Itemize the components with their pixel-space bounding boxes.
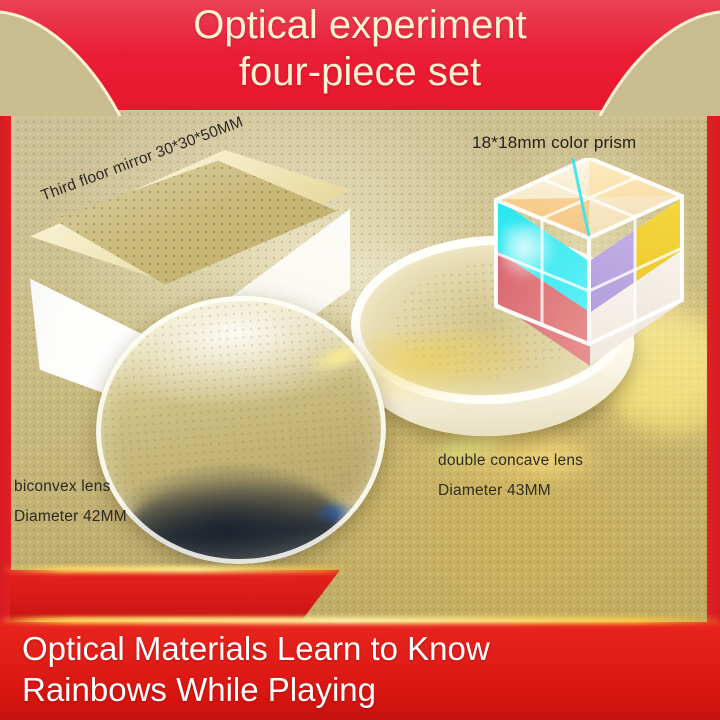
product-biconvex-lens <box>87 286 395 574</box>
footer-glow-line <box>0 617 720 624</box>
footer-parallelogram <box>10 570 340 622</box>
product-color-prism-cube <box>478 158 698 388</box>
label-color-prism: 18*18mm color prism <box>472 133 636 153</box>
footer-tagline-line1: Optical Materials Learn to Know <box>22 628 702 669</box>
label-biconvex-diameter: Diameter 42MM <box>14 508 127 526</box>
header-title-line1: Optical experiment <box>0 2 720 49</box>
header-title: Optical experiment four-piece set <box>0 2 720 96</box>
footer-tagline-line2: Rainbows While Playing <box>22 669 702 710</box>
footer-glow-top <box>0 566 352 573</box>
footer-tagline: Optical Materials Learn to Know Rainbows… <box>22 628 702 710</box>
product-poster: Third floor mirror 30*30*50MM 18*18mm co… <box>0 0 720 720</box>
label-biconvex-lens: biconvex lens <box>14 478 111 496</box>
header-title-line2: four-piece set <box>0 49 720 96</box>
label-double-concave-diameter: Diameter 43MM <box>438 482 551 500</box>
label-double-concave-lens: double concave lens <box>438 452 583 470</box>
